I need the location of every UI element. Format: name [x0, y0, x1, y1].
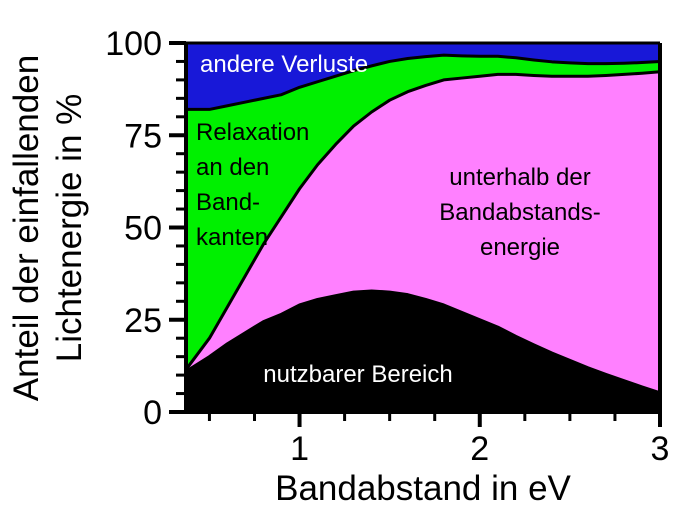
- y-tick-label-50: 50: [124, 210, 162, 248]
- x-axis-tick-labels: 123: [290, 430, 669, 468]
- annotation-line: Relaxation: [196, 119, 309, 146]
- annotation-andere-verluste: andere Verluste: [200, 51, 368, 78]
- y-tick-label-25: 25: [124, 302, 162, 340]
- annotation-line: kanten: [196, 224, 268, 251]
- y-axis-title-line2: Lichtenergie in %: [50, 94, 89, 363]
- y-tick-label-75: 75: [124, 117, 162, 155]
- chart-container: 0255075100 123 andere VerlusteRelaxation…: [0, 0, 689, 512]
- annotation-line: unterhalb der: [449, 164, 590, 191]
- annotation-line: nutzbarer Bereich: [263, 361, 452, 388]
- annotation-line: Band-: [196, 189, 260, 216]
- y-tick-label-0: 0: [143, 394, 162, 432]
- annotation-line: andere Verluste: [200, 51, 368, 78]
- annotation-line: energie: [480, 234, 560, 261]
- x-tick-label-1: 1: [290, 430, 309, 468]
- x-tick-label-3: 3: [651, 430, 670, 468]
- x-axis-ticks: [209, 412, 660, 427]
- x-tick-label-2: 2: [470, 430, 489, 468]
- y-axis-tick-labels: 0255075100: [105, 25, 162, 432]
- y-axis-ticks: [169, 43, 186, 412]
- x-axis-title: Bandabstand in eV: [275, 469, 571, 508]
- area-chart-svg: 0255075100 123 andere VerlusteRelaxation…: [0, 0, 689, 512]
- annotation-line: an den: [196, 154, 269, 181]
- annotation-line: Bandabstands-: [439, 199, 600, 226]
- y-tick-label-100: 100: [105, 25, 162, 63]
- y-axis-title-line1: Anteil der einfallenden: [7, 55, 46, 401]
- annotation-nutzbarer-bereich: nutzbarer Bereich: [263, 361, 452, 388]
